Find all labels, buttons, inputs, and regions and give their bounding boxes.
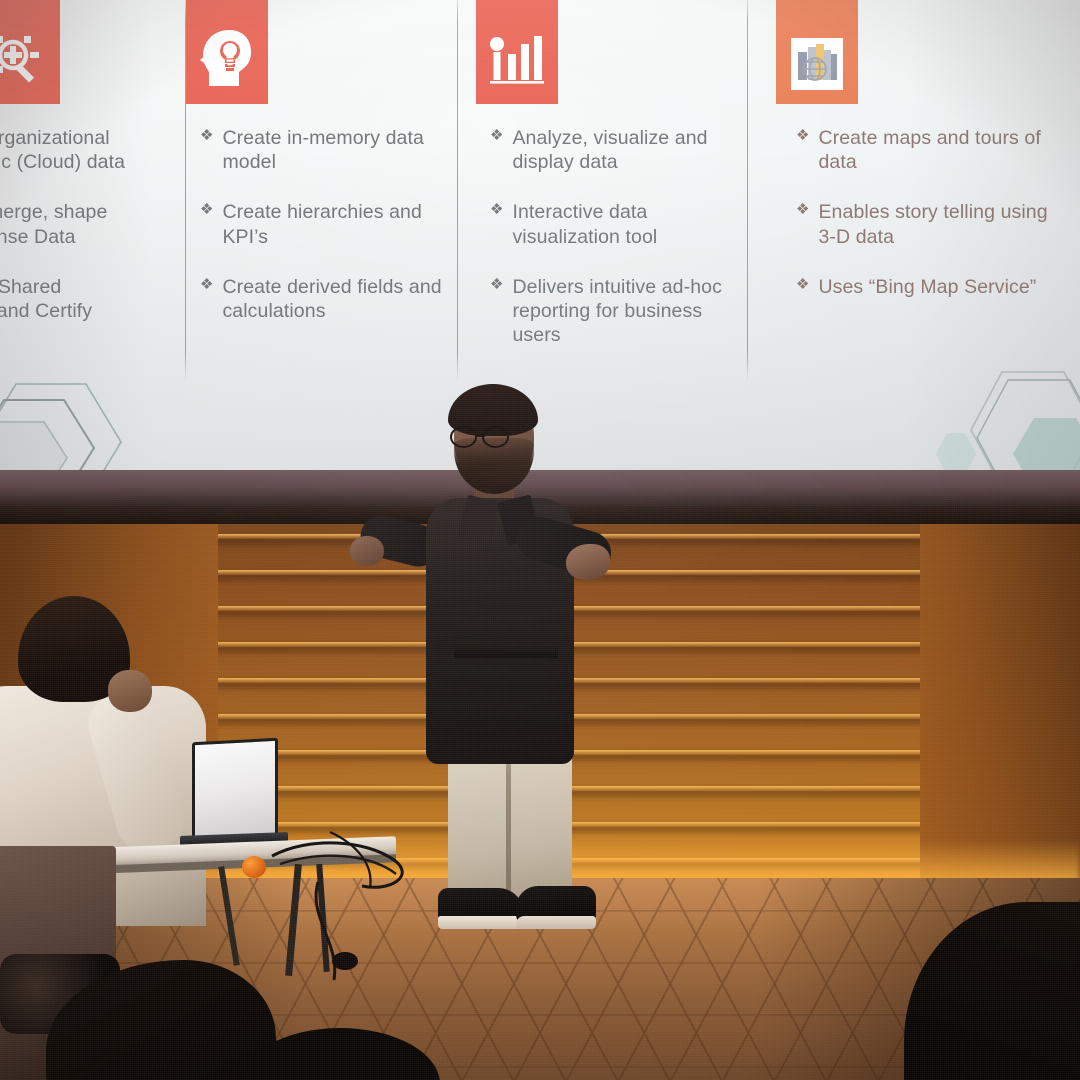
presenter-figure — [398, 386, 646, 946]
list-item: ❖ Create in-memory data model — [200, 126, 450, 174]
list-item: ❖ Create maps and tours of data — [796, 126, 1062, 174]
eyeglasses-bridge — [476, 434, 485, 437]
eyeglasses-lens-right — [482, 426, 509, 448]
list-item: ❖ Delivers intuitive ad-hoc reporting fo… — [490, 275, 742, 348]
slide-column-group: over — [0, 0, 1080, 400]
bullet-marker-icon: ❖ — [490, 200, 503, 248]
bullet-text: t, merge, shapeleanse Data — [0, 200, 107, 248]
bullet-text: Delivers intuitive ad-hoc reporting for … — [512, 275, 742, 348]
discover-bullet-list: ❖ n organizationalublic (Cloud) data ❖ t… — [0, 126, 186, 373]
laptop-screen[interactable] — [192, 738, 278, 841]
bullet-text: Create hierarchies and KPI’s — [222, 200, 450, 248]
visualize-bullet-list: ❖ Analyze, visualize and display data ❖ … — [490, 126, 742, 373]
analyze-bullet-list: ❖ Create in-memory data model ❖ Create h… — [200, 126, 450, 349]
slide-column-map: ❖ Create maps and tours of data ❖ Enable… — [748, 0, 1080, 400]
presentation-photo-scene: over — [0, 0, 1080, 1080]
presenter-belt — [454, 644, 558, 658]
slide-column-analyze: Analyze — [186, 0, 458, 400]
bullet-text: Analyze, visualize and display data — [512, 126, 742, 174]
visualize-icon-tile — [476, 0, 558, 104]
bullet-text: Enables story telling using 3-D data — [818, 200, 1062, 248]
bullet-text: Uses “Bing Map Service” — [818, 275, 1036, 299]
bullet-text: n organizationalublic (Cloud) data — [0, 126, 125, 174]
list-item: ❖ Analyze, visualize and display data — [490, 126, 742, 174]
attendee-hand — [108, 670, 152, 712]
bullet-marker-icon: ❖ — [796, 275, 809, 299]
analyze-icon-tile: Analyze — [186, 0, 268, 104]
list-item: ❖ Uses “Bing Map Service” — [796, 275, 1062, 299]
bullet-text: Create maps and tours of data — [818, 126, 1062, 174]
slide-column-visualize: ❖ Analyze, visualize and display data ❖ … — [458, 0, 748, 400]
list-item: ❖ Interactive data visualization tool — [490, 200, 742, 248]
map-bullet-list: ❖ Create maps and tours of data ❖ Enable… — [796, 126, 1062, 325]
bullet-marker-icon: ❖ — [490, 275, 503, 348]
bullet-text: Create derived fields and calculations — [222, 275, 450, 323]
presenter-right-hand — [566, 544, 610, 580]
list-item: ❖ ge Sharedes and Certifyes — [0, 275, 186, 348]
bullet-marker-icon: ❖ — [796, 200, 809, 248]
presenter-left-hand — [350, 536, 384, 566]
cable-plug — [332, 952, 358, 970]
presenter-left-shoe-sole — [438, 916, 524, 929]
list-item: ❖ t, merge, shapeleanse Data — [0, 200, 186, 248]
bullet-marker-icon: ❖ — [796, 126, 809, 174]
slide-column-discover: over — [0, 0, 186, 400]
head-lightbulb-icon — [199, 28, 255, 90]
list-item: ❖ Create hierarchies and KPI’s — [200, 200, 450, 248]
bar-chart-icon — [487, 32, 547, 90]
discover-icon-tile: over — [0, 0, 60, 104]
eyeglasses-icon — [450, 426, 477, 448]
list-item: ❖ Create derived fields and calculations — [200, 275, 450, 323]
bullet-text: ge Sharedes and Certifyes — [0, 275, 92, 348]
map-icon-tile — [776, 0, 858, 104]
bullet-marker-icon: ❖ — [490, 126, 503, 174]
list-item: ❖ Enables story telling using 3-D data — [796, 200, 1062, 248]
wall-panel-right — [920, 524, 1080, 880]
magnifier-plus-icon — [0, 32, 48, 90]
list-item: ❖ n organizationalublic (Cloud) data — [0, 126, 186, 174]
orange-fruit — [242, 856, 266, 878]
bullet-marker-icon: ❖ — [200, 200, 213, 248]
bullet-marker-icon: ❖ — [200, 275, 213, 323]
bullet-text: Interactive data visualization tool — [512, 200, 742, 248]
bullet-marker-icon: ❖ — [200, 126, 213, 174]
presenter-right-shoe-sole — [516, 916, 596, 929]
buildings-globe-icon — [791, 38, 843, 90]
bullet-text: Create in-memory data model — [222, 126, 450, 174]
